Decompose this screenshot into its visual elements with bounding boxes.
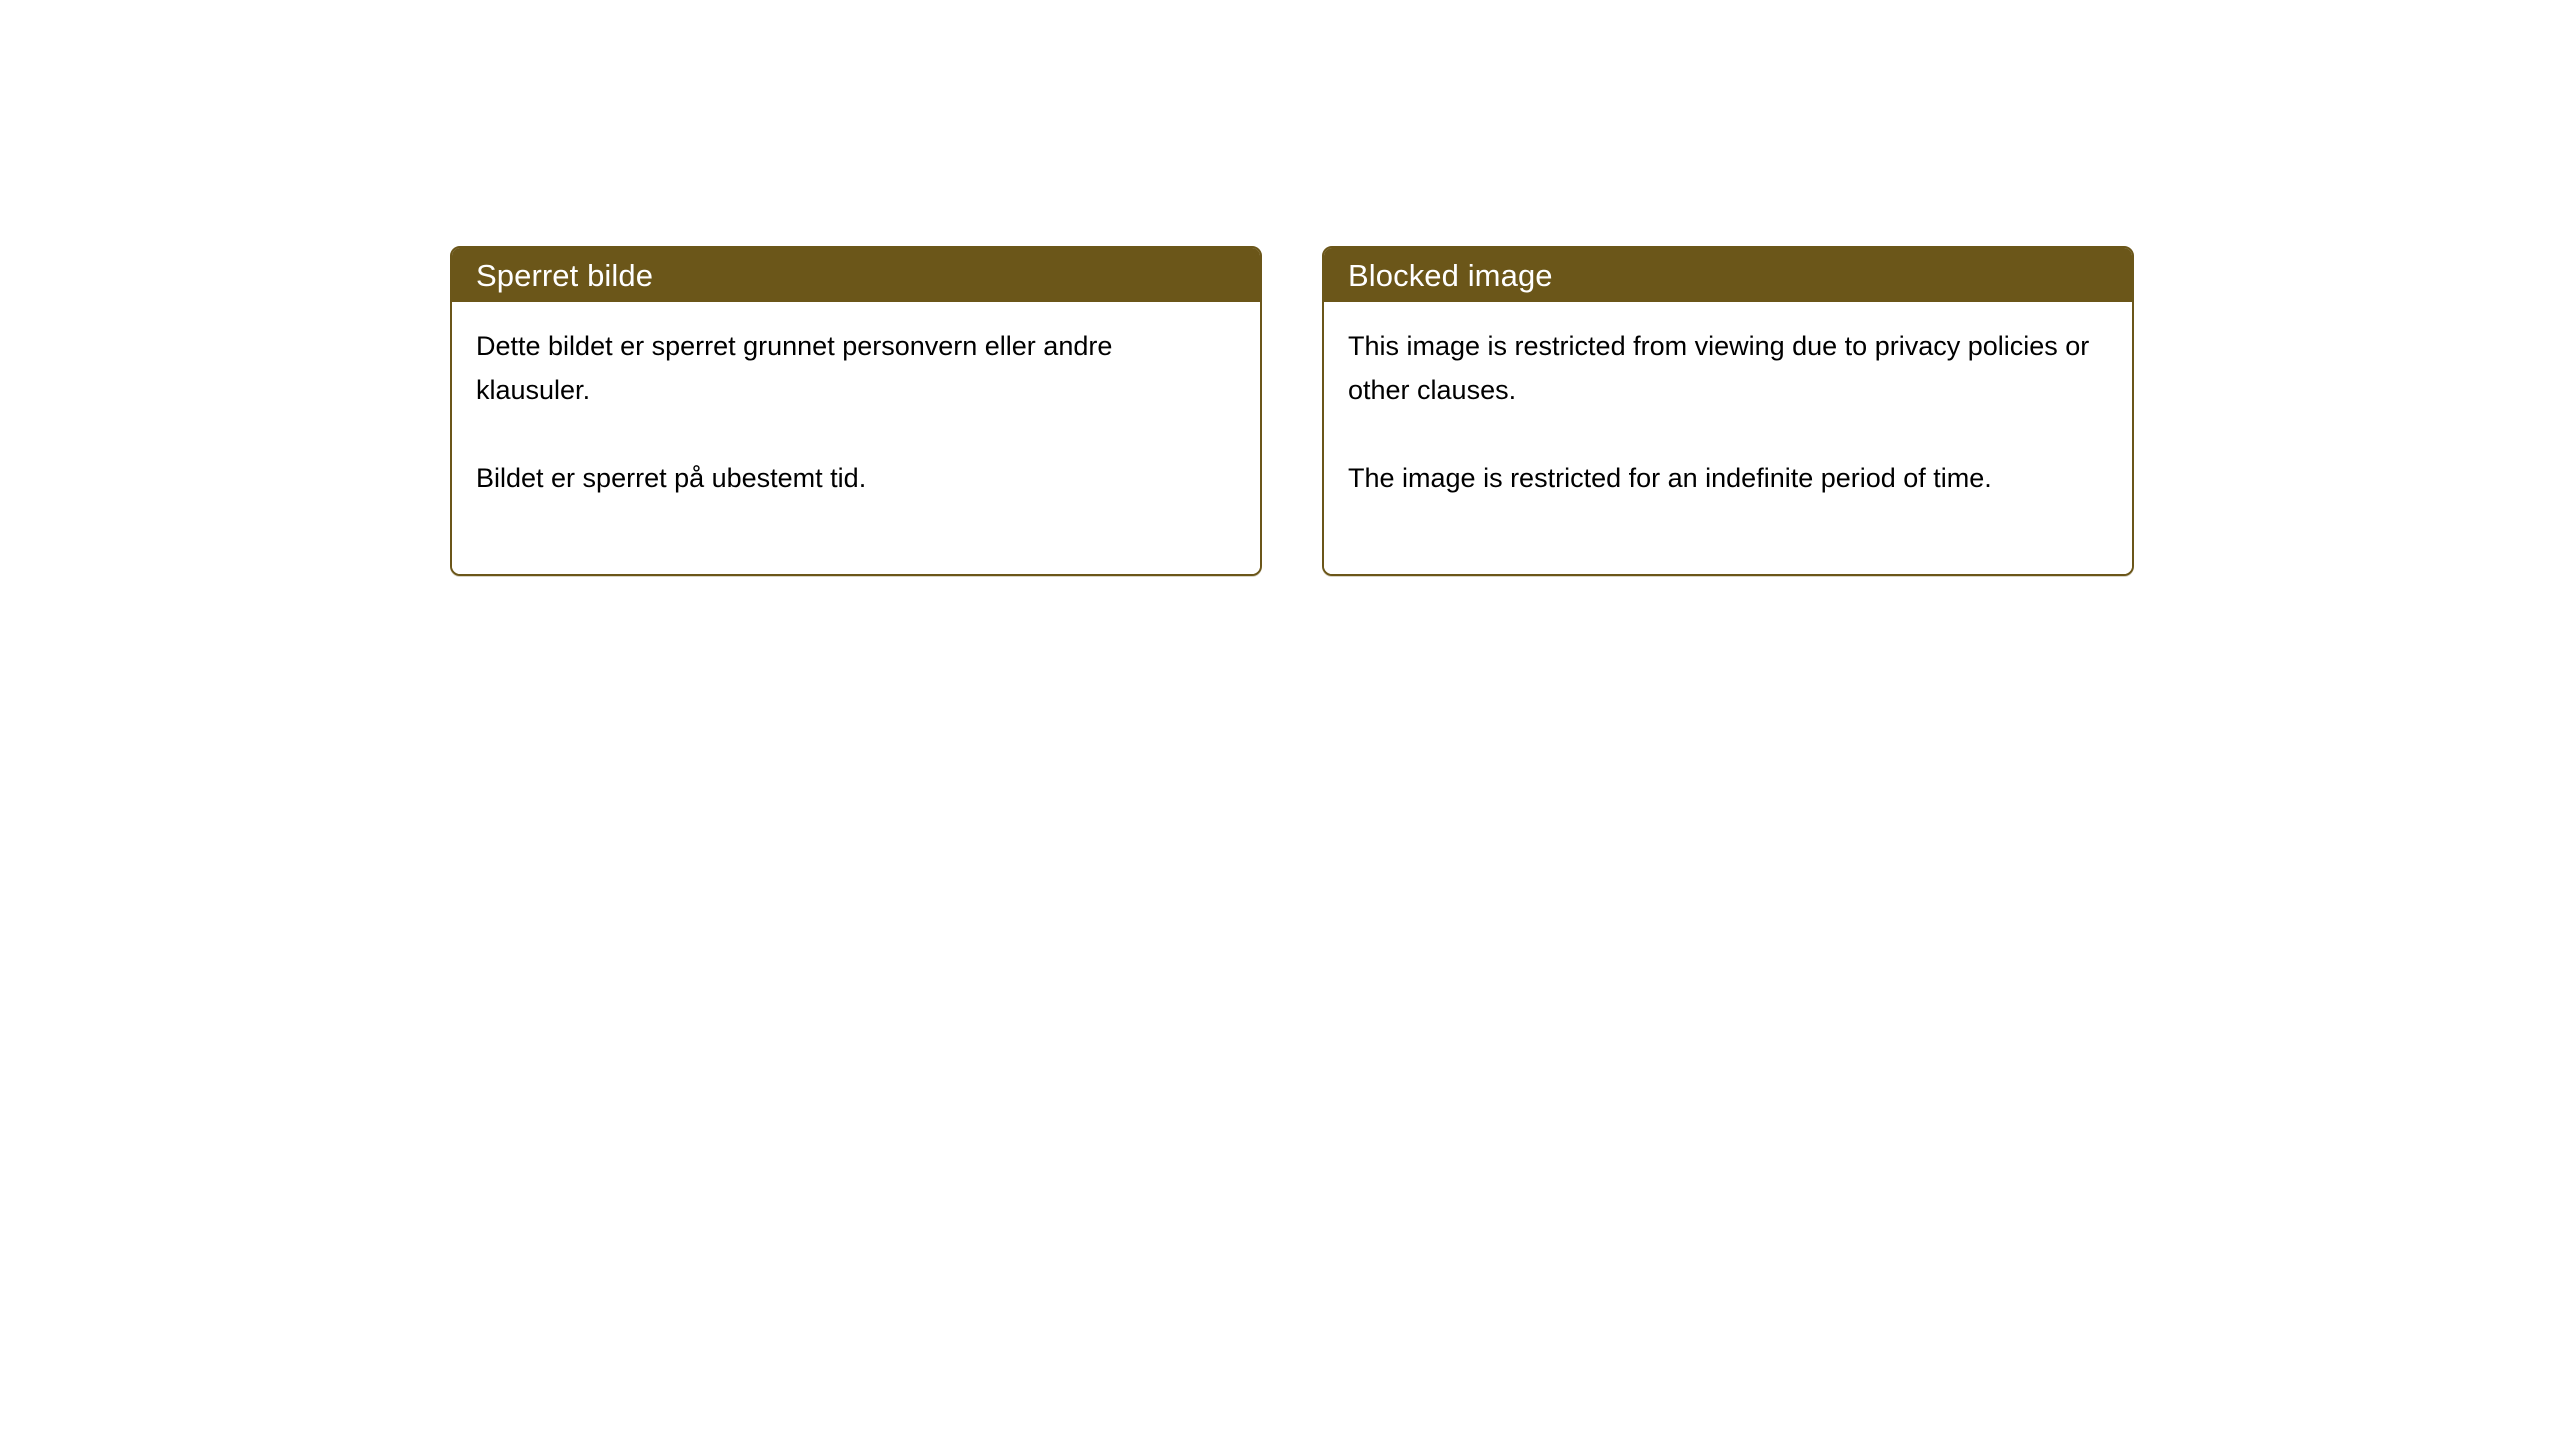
card-title-norwegian: Sperret bilde (476, 260, 653, 291)
card-title-english: Blocked image (1348, 260, 1553, 291)
card-body-english: This image is restricted from viewing du… (1324, 302, 2132, 574)
card-header-norwegian: Sperret bilde (452, 248, 1260, 302)
card-paragraph-secondary-norwegian: Bildet er sperret på ubestemt tid. (476, 456, 1226, 500)
blocked-image-notice-group: Sperret bilde Dette bildet er sperret gr… (450, 246, 2134, 576)
blocked-image-card-norwegian: Sperret bilde Dette bildet er sperret gr… (450, 246, 1262, 576)
blocked-image-card-english: Blocked image This image is restricted f… (1322, 246, 2134, 576)
page-root: Sperret bilde Dette bildet er sperret gr… (0, 0, 2560, 1440)
card-header-english: Blocked image (1324, 248, 2132, 302)
card-paragraph-secondary-english: The image is restricted for an indefinit… (1348, 456, 2098, 500)
card-body-norwegian: Dette bildet er sperret grunnet personve… (452, 302, 1260, 574)
card-paragraph-primary-norwegian: Dette bildet er sperret grunnet personve… (476, 324, 1226, 412)
card-paragraph-primary-english: This image is restricted from viewing du… (1348, 324, 2098, 412)
